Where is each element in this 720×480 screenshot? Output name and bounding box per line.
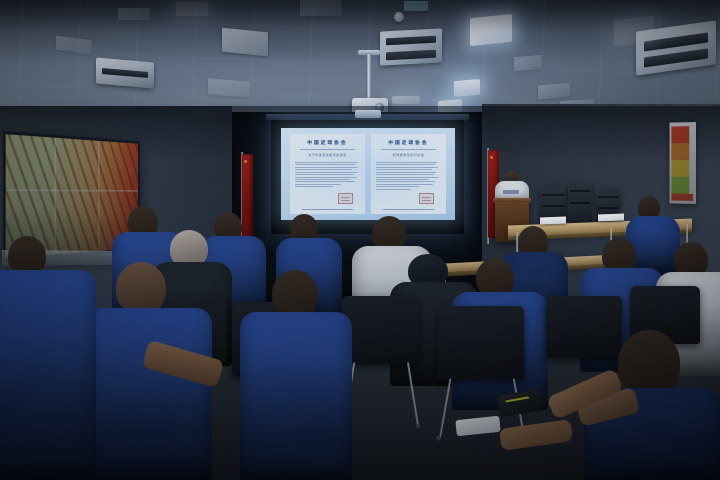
sneaker-lace bbox=[505, 397, 529, 403]
chair-1[interactable] bbox=[342, 296, 420, 364]
slide-document-right-body bbox=[376, 160, 441, 191]
chair-5[interactable] bbox=[546, 296, 622, 358]
attendee-6-torso bbox=[240, 312, 352, 480]
poster-shading bbox=[669, 122, 696, 204]
projector-drop-pole bbox=[366, 54, 371, 100]
slide-document-right-heading: 中国足球协会 bbox=[388, 140, 428, 146]
chair-1-caster-b bbox=[416, 424, 421, 429]
attendee-14-head bbox=[618, 330, 680, 396]
slide-document-left-rule bbox=[300, 149, 356, 150]
conference-room-photo: 中国足球协会 关于印发有关规定的通知 中国足球协会 bbox=[0, 0, 720, 480]
slide-document-right-rule bbox=[381, 149, 437, 150]
attendee-2-torso bbox=[86, 308, 212, 480]
name-card-right-label bbox=[598, 214, 624, 215]
name-card-right bbox=[598, 214, 624, 222]
attendee-2-head bbox=[116, 262, 166, 314]
slide-document-right: 中国足球协会 纪律准则及执行办法 bbox=[371, 134, 446, 214]
attendee-6-head bbox=[272, 270, 318, 318]
attendee-1-torso bbox=[0, 270, 96, 480]
lectern-top bbox=[493, 198, 531, 202]
chair-2[interactable] bbox=[438, 306, 524, 380]
projected-slide: 中国足球协会 关于印发有关规定的通知 中国足球协会 bbox=[281, 128, 455, 220]
chinese-flag-left bbox=[241, 152, 255, 244]
flag-cloth-left bbox=[242, 154, 253, 239]
slide-document-right-signature-line bbox=[383, 209, 434, 210]
slide-document-left-subheading: 关于印发有关规定的通知 bbox=[308, 153, 347, 158]
chair-2-caster-a bbox=[436, 436, 441, 441]
presenter-shirt-graphic bbox=[503, 190, 519, 194]
wall-poster bbox=[669, 122, 696, 204]
av-rack-center bbox=[568, 182, 592, 224]
slide-document-right-subheading: 纪律准则及执行办法 bbox=[393, 153, 425, 158]
slide-document-left-body bbox=[295, 160, 360, 189]
slide-document-left-signature-line bbox=[302, 209, 353, 210]
slide-document-right-seal bbox=[419, 193, 434, 204]
slide-document-left-heading: 中国足球协会 bbox=[307, 140, 347, 146]
name-card-left-label bbox=[540, 217, 566, 218]
slide-document-left-seal bbox=[338, 193, 353, 204]
slide-document-left: 中国足球协会 关于印发有关规定的通知 bbox=[290, 134, 365, 214]
name-card-left bbox=[540, 217, 566, 225]
screen-ceiling-mount bbox=[355, 110, 381, 118]
